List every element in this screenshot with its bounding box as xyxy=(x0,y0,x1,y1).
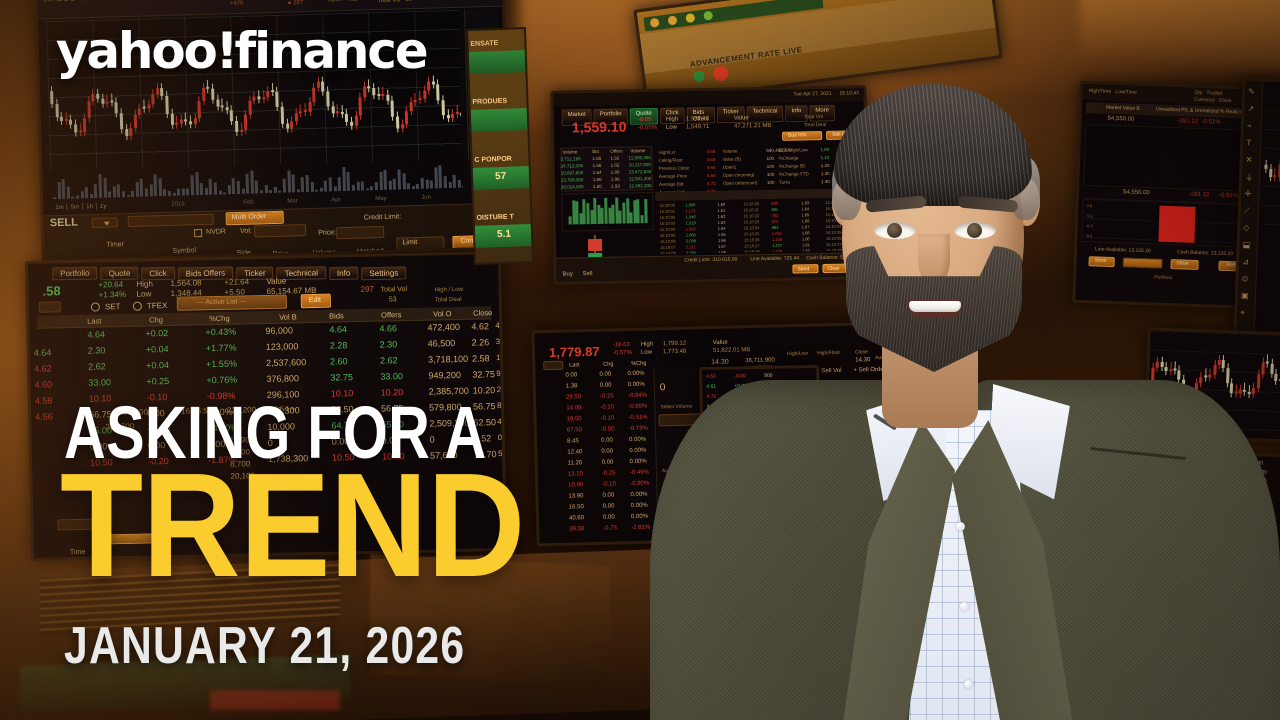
volume-bar xyxy=(416,184,419,189)
candlestick xyxy=(257,97,260,100)
volume-bar xyxy=(278,190,281,192)
candlestick xyxy=(165,96,168,113)
candlestick xyxy=(312,87,315,102)
volume-bar xyxy=(458,179,461,188)
candlestick xyxy=(60,117,63,120)
volume-bar xyxy=(407,183,410,189)
depth-offer: 1.82 xyxy=(611,163,620,168)
volume-bar xyxy=(310,182,313,192)
logo-text-finance: finance xyxy=(234,22,426,80)
volume-bar xyxy=(379,172,383,190)
volume-bar xyxy=(315,189,318,191)
volume-bar xyxy=(200,183,203,195)
candlestick xyxy=(341,112,344,114)
volume-bar xyxy=(462,186,463,188)
depth-bid: 1.64 xyxy=(593,170,602,175)
candlestick xyxy=(143,107,146,109)
ticker-wall-value: 5.1 xyxy=(497,229,511,240)
candlestick xyxy=(1256,374,1260,389)
volume-bar xyxy=(361,182,364,191)
candlestick xyxy=(225,107,228,110)
volume-bar xyxy=(250,171,254,194)
volume-bar xyxy=(81,191,84,198)
volume-bar xyxy=(223,192,226,195)
candlestick xyxy=(230,110,233,121)
chart-tool-icon[interactable]: T xyxy=(1246,138,1251,147)
chart-tool-icon[interactable]: ▣ xyxy=(1241,291,1249,300)
depth-col: Bid xyxy=(592,149,599,154)
candlestick xyxy=(276,92,279,106)
candlestick xyxy=(396,116,399,128)
volume-bar xyxy=(356,182,359,191)
side-price: 4.60 xyxy=(34,379,52,389)
candlestick xyxy=(363,87,366,98)
candlestick xyxy=(189,122,192,125)
candlestick xyxy=(216,100,219,107)
candlestick xyxy=(442,100,445,115)
chart-tool-icon[interactable]: ⟋ xyxy=(1244,206,1250,216)
volume-bar xyxy=(384,170,388,190)
depth-volb: 3,712,195 xyxy=(560,156,580,161)
chart-tool-icon[interactable]: ⌁ xyxy=(1247,121,1252,130)
logo-exclamation-icon: ! xyxy=(216,22,235,80)
volume-bar xyxy=(131,191,134,197)
teeth xyxy=(909,301,961,312)
volume-bar xyxy=(113,187,116,198)
volume-bar xyxy=(158,178,162,196)
candlestick xyxy=(125,129,128,136)
candlestick xyxy=(50,91,53,104)
candlestick xyxy=(355,116,358,126)
candlestick xyxy=(391,101,394,117)
side-price: 4.64 xyxy=(34,347,52,357)
candlestick xyxy=(321,82,324,92)
candlestick xyxy=(336,111,339,113)
candlestick xyxy=(409,102,412,112)
candlestick xyxy=(1264,165,1267,169)
candlestick xyxy=(308,102,311,112)
lc-cell-chg: 0.00 xyxy=(601,448,613,454)
volume-bar xyxy=(292,175,295,193)
candlestick xyxy=(427,81,430,90)
center-buy-tab[interactable]: Buy xyxy=(562,271,572,277)
lc-cell-chg: -0.50 xyxy=(601,426,615,432)
candlestick xyxy=(240,130,243,132)
volume-bar xyxy=(103,178,107,198)
candlestick xyxy=(359,98,363,116)
candlestick xyxy=(211,89,214,100)
candlestick xyxy=(55,104,58,117)
symbol-label: Symbol xyxy=(173,247,197,255)
mouth xyxy=(908,300,962,318)
side-price: 4.58 xyxy=(35,395,53,405)
volume-bar xyxy=(98,174,102,198)
candlestick xyxy=(134,115,137,128)
candlestick xyxy=(1274,374,1277,381)
lc-cell-last: 67.50 xyxy=(567,427,582,433)
candlestick xyxy=(193,118,196,125)
depth-bid: 1.66 xyxy=(593,177,602,182)
candlestick xyxy=(350,122,353,126)
volume-bar xyxy=(135,181,138,196)
candlestick xyxy=(65,118,68,120)
lc-cell-chg: 0.00 xyxy=(602,492,614,498)
volume-bar xyxy=(402,173,405,189)
candlestick xyxy=(160,88,163,97)
candlestick xyxy=(120,113,123,129)
ticker-wall: ENSATEPRODUESC PONPOR57OISTURE T5.1 xyxy=(466,27,534,265)
candlestick xyxy=(295,114,298,122)
candlestick xyxy=(1247,392,1250,395)
candlestick xyxy=(79,130,82,132)
volume-bar xyxy=(397,170,401,190)
lc-cell-chg: 0.00 xyxy=(600,383,612,389)
chart-tool-icon[interactable]: ✎ xyxy=(1248,87,1255,96)
lc-cell-chg: -0.25 xyxy=(600,393,614,399)
lc-cell-last: 19.50 xyxy=(567,416,582,422)
volume-bar xyxy=(214,182,217,194)
candlestick xyxy=(180,120,183,124)
eye-right xyxy=(954,222,996,239)
volume-bar xyxy=(228,185,231,194)
yahoo-finance-logo[interactable]: yahoo!finance xyxy=(56,22,426,80)
candlestick xyxy=(290,121,293,128)
volume-bar xyxy=(177,189,180,196)
candlestick xyxy=(401,125,404,128)
candlestick xyxy=(1269,169,1272,177)
ticker-wall-label: PRODUES xyxy=(472,98,507,106)
lc-cell-chg: 0.00 xyxy=(603,503,615,509)
candlestick xyxy=(110,100,113,102)
volume-bar xyxy=(90,194,93,198)
volume-bar xyxy=(149,185,152,197)
volume-bar xyxy=(108,192,111,198)
anchor-torso xyxy=(660,380,1220,720)
depth-volb: 10,097,600 xyxy=(561,170,584,175)
volume-bar xyxy=(127,195,130,198)
candlestick xyxy=(460,112,462,116)
volume-bar xyxy=(453,175,456,188)
candlestick xyxy=(1261,362,1264,374)
lc-cell-last: 11.20 xyxy=(568,460,583,466)
side-price: 4.62 xyxy=(34,363,52,373)
candlestick xyxy=(367,87,370,89)
volume-bar xyxy=(255,180,258,193)
depth-offer: 1.96 xyxy=(611,177,620,182)
volume-bar xyxy=(140,178,144,196)
volume-bar xyxy=(173,193,176,196)
candlestick xyxy=(1252,389,1255,395)
candlestick xyxy=(331,106,334,113)
candlestick xyxy=(115,102,118,113)
volume-bar xyxy=(269,190,272,193)
vol-label: Vol: xyxy=(240,228,252,235)
volume-bar xyxy=(448,182,451,188)
candlestick xyxy=(253,97,256,101)
volume-bar xyxy=(425,180,428,189)
volume-bar xyxy=(122,191,125,197)
lc-cell-chg: 0.00 xyxy=(601,437,613,443)
volume-bar xyxy=(329,178,332,192)
chart-tool-icon[interactable]: ⊿ xyxy=(1242,257,1249,266)
candlestick xyxy=(92,94,95,100)
chart-tool-icon[interactable]: ✕ xyxy=(1246,155,1253,164)
volume-bar xyxy=(306,175,309,192)
volume-bar xyxy=(62,179,66,199)
candlestick xyxy=(147,105,150,109)
volume-bar xyxy=(342,167,346,191)
chart-tool-icon[interactable]: ◇ xyxy=(1243,223,1249,232)
candlestick xyxy=(106,102,109,104)
volume-bar xyxy=(347,172,351,191)
lc-cell-last: 40.60 xyxy=(569,515,584,521)
chart-tool-icon[interactable]: ↗ xyxy=(1247,104,1254,113)
candlestick xyxy=(436,84,439,100)
depth-volb: 13,708,300 xyxy=(561,177,584,182)
video-thumbnail: ADVANCEMENT RATE LIVE 24h ⊞ ⊞ ⊞ 4.56e 60… xyxy=(0,0,1280,720)
ticker-wall-value: 57 xyxy=(495,171,507,182)
volume-bar xyxy=(195,172,199,195)
volume-bar xyxy=(154,175,158,197)
anchor-hair xyxy=(834,84,1032,206)
lc-cell-last: 12.40 xyxy=(567,449,582,455)
candlestick xyxy=(414,99,417,101)
episode-date: JANUARY 21, 2026 xyxy=(64,618,465,674)
shirt-button-3 xyxy=(964,680,973,689)
volume-bar xyxy=(283,179,286,193)
shirt-button-2 xyxy=(960,602,969,611)
volume-bar xyxy=(117,185,120,198)
ticker-wall-label: C PONPOR xyxy=(474,156,512,164)
candlestick xyxy=(138,109,141,115)
lc-cell-chg: -0.10 xyxy=(602,481,616,487)
volume-bar xyxy=(57,182,60,199)
candlestick xyxy=(432,81,435,84)
candlestick xyxy=(1270,364,1273,374)
lc-cell-chg: 0.00 xyxy=(603,514,615,520)
candlestick xyxy=(235,121,238,132)
volume-bar xyxy=(264,186,267,194)
candlestick xyxy=(244,115,247,130)
lc-cell-chg: 0.00 xyxy=(599,372,611,378)
volume-bar xyxy=(209,179,212,195)
lc-index-value: 1,779.87 xyxy=(549,344,600,360)
volume-bar xyxy=(320,188,323,192)
volume-bar xyxy=(76,195,79,198)
credit-limit-label: Credit Limit: xyxy=(364,213,402,221)
volume-bar xyxy=(274,187,277,193)
volume-bar xyxy=(370,187,373,191)
depth-volb: 24,712,000 xyxy=(561,163,584,168)
lc-cell-last: 1.38 xyxy=(566,383,578,389)
iris-left xyxy=(887,223,902,238)
candlestick xyxy=(1273,175,1276,177)
candlestick xyxy=(418,98,421,100)
candlestick xyxy=(326,91,329,106)
volume-bar xyxy=(186,188,189,196)
candlestick xyxy=(271,90,274,92)
lc-cell-last: 29.50 xyxy=(566,394,581,400)
volume-bar xyxy=(71,196,74,199)
candlestick xyxy=(386,94,389,101)
limit-dropdown-label: Limit xyxy=(402,239,417,246)
candlestick xyxy=(184,120,187,122)
depth-bid: 1.65 xyxy=(592,156,601,161)
volume-bar xyxy=(232,178,235,194)
candlestick xyxy=(405,111,408,124)
timer-label: Timer xyxy=(106,241,124,248)
lc-cell-chg: -0.75 xyxy=(603,525,617,531)
side-price: 4.56 xyxy=(35,411,53,421)
volume-bar xyxy=(241,189,244,194)
lc-cell-chg: -0.25 xyxy=(602,470,616,476)
volume-bar xyxy=(412,186,415,189)
candlestick xyxy=(198,101,201,118)
candlestick xyxy=(221,105,224,107)
sell-label: SELL xyxy=(50,216,78,229)
volume-bar xyxy=(182,189,185,196)
candlestick xyxy=(101,99,104,104)
candlestick xyxy=(423,90,426,99)
volume-bar xyxy=(375,182,378,190)
lc-cell-last: 13.90 xyxy=(568,493,583,499)
candlestick xyxy=(248,100,251,114)
shirt-button-1 xyxy=(956,522,965,531)
depth-offer: 1.93 xyxy=(611,184,620,189)
depth-col: Volume xyxy=(562,149,577,154)
chart-tool-icon[interactable]: ⌖ xyxy=(1240,308,1245,318)
lc-cell-last: 10.90 xyxy=(568,482,583,488)
candlestick xyxy=(129,128,132,136)
candlestick xyxy=(456,111,459,113)
depth-bid: 1.80 xyxy=(593,184,602,189)
lc-cell-last: 0.00 xyxy=(565,372,577,378)
candlestick xyxy=(74,124,77,132)
volume-bar xyxy=(191,175,195,195)
anchor-photo xyxy=(620,50,1240,720)
chart-tool-icon[interactable]: ⊙ xyxy=(1241,274,1248,283)
lc-cell-last: 14.00 xyxy=(566,405,581,411)
candlestick xyxy=(304,110,307,112)
volume-bar xyxy=(439,165,443,188)
lc-cell-chg: 0.00 xyxy=(602,459,614,465)
volume-bar xyxy=(297,190,300,193)
price-label: Price: xyxy=(318,229,336,236)
volume-bar xyxy=(393,179,396,190)
depth-bid: 1.66 xyxy=(593,163,602,168)
volume-bar xyxy=(163,189,166,196)
candlestick xyxy=(151,94,154,105)
monitor-far-right-chart: ✎↗⌁T✕⏚✛⟋◇⬓⊿⊙▣⌖ xyxy=(1233,78,1280,342)
show-title-line2: TREND xyxy=(60,452,524,600)
ticker-wall-bar xyxy=(471,108,528,132)
candlestick xyxy=(175,123,178,125)
iris-right xyxy=(967,223,982,238)
volume-bar xyxy=(67,187,70,199)
volume-bar xyxy=(237,181,240,194)
lc-cell-last: 8.45 xyxy=(567,438,579,444)
ticker-wall-bar xyxy=(469,50,526,74)
center-sell-tab[interactable]: Sell xyxy=(582,271,592,277)
volume-bar xyxy=(94,184,97,198)
candlestick xyxy=(156,88,159,94)
candlestick xyxy=(451,114,454,119)
volume-bar xyxy=(260,190,263,193)
nvdr-label: NVDR xyxy=(206,228,226,236)
candlestick xyxy=(170,114,173,125)
volume-bar xyxy=(168,191,171,196)
candlestick xyxy=(206,87,209,89)
depth-offer: 1.95 xyxy=(611,170,620,175)
candlestick xyxy=(83,118,86,132)
volume-bar xyxy=(205,188,208,195)
volume-bar xyxy=(352,185,355,191)
volume-bar xyxy=(145,188,148,196)
volume-bar xyxy=(333,186,336,191)
candlestick xyxy=(281,106,284,123)
ticker-wall-label: OISTURE T xyxy=(476,214,514,222)
candlestick xyxy=(377,94,380,96)
multi-order-label: Multi Order xyxy=(232,213,267,221)
lc-col: Chg xyxy=(603,361,613,367)
volume-bar xyxy=(338,177,341,191)
candlestick xyxy=(382,94,385,96)
eye-left xyxy=(874,222,916,239)
volume-bar xyxy=(246,174,250,194)
ticker-wall-label: ENSATE xyxy=(470,40,498,48)
logo-text-yahoo: yahoo xyxy=(56,22,216,80)
candlestick xyxy=(96,94,99,99)
volume-bar xyxy=(444,176,447,188)
candlestick xyxy=(87,101,90,118)
candlestick xyxy=(372,89,375,96)
volume-bar xyxy=(366,188,369,190)
chart-tool-icon[interactable]: ⬓ xyxy=(1243,240,1251,249)
volume-bar xyxy=(324,181,327,192)
volume-bar xyxy=(219,190,222,194)
candlestick xyxy=(1243,390,1246,392)
candlestick xyxy=(69,119,72,124)
center-index-value: 1,559.10 xyxy=(572,118,627,135)
volume-bar xyxy=(430,181,433,189)
lc-col: Last xyxy=(569,362,580,368)
depth-volb: 20,024,000 xyxy=(561,184,584,189)
candlestick xyxy=(447,115,450,118)
lc-cell-chg: -0.10 xyxy=(600,404,614,410)
lc-cell-last: 16.50 xyxy=(569,504,584,510)
lc-cell-last: 39.00 xyxy=(569,526,584,532)
lc-cell-last: 13.10 xyxy=(568,471,583,477)
candlestick xyxy=(262,97,265,99)
volume-bar xyxy=(53,197,56,199)
lc-cell-chg: -0.10 xyxy=(601,415,615,421)
candlestick xyxy=(202,88,205,101)
volume-bar xyxy=(421,178,424,189)
volume-bar xyxy=(301,177,304,192)
chart-tool-icon[interactable]: ⏚ xyxy=(1245,172,1253,183)
volume-bar xyxy=(434,168,438,189)
chart-tool-icon[interactable]: ✛ xyxy=(1244,189,1251,198)
candlestick xyxy=(317,82,320,87)
candlestick xyxy=(266,91,269,97)
depth-offer: 1.92 xyxy=(610,156,619,161)
volume-bar xyxy=(389,180,392,189)
candlestick xyxy=(1266,362,1269,364)
candlestick xyxy=(299,111,302,113)
volume-bar xyxy=(287,170,291,192)
candlestick xyxy=(286,123,289,128)
volume-bar xyxy=(85,188,88,199)
